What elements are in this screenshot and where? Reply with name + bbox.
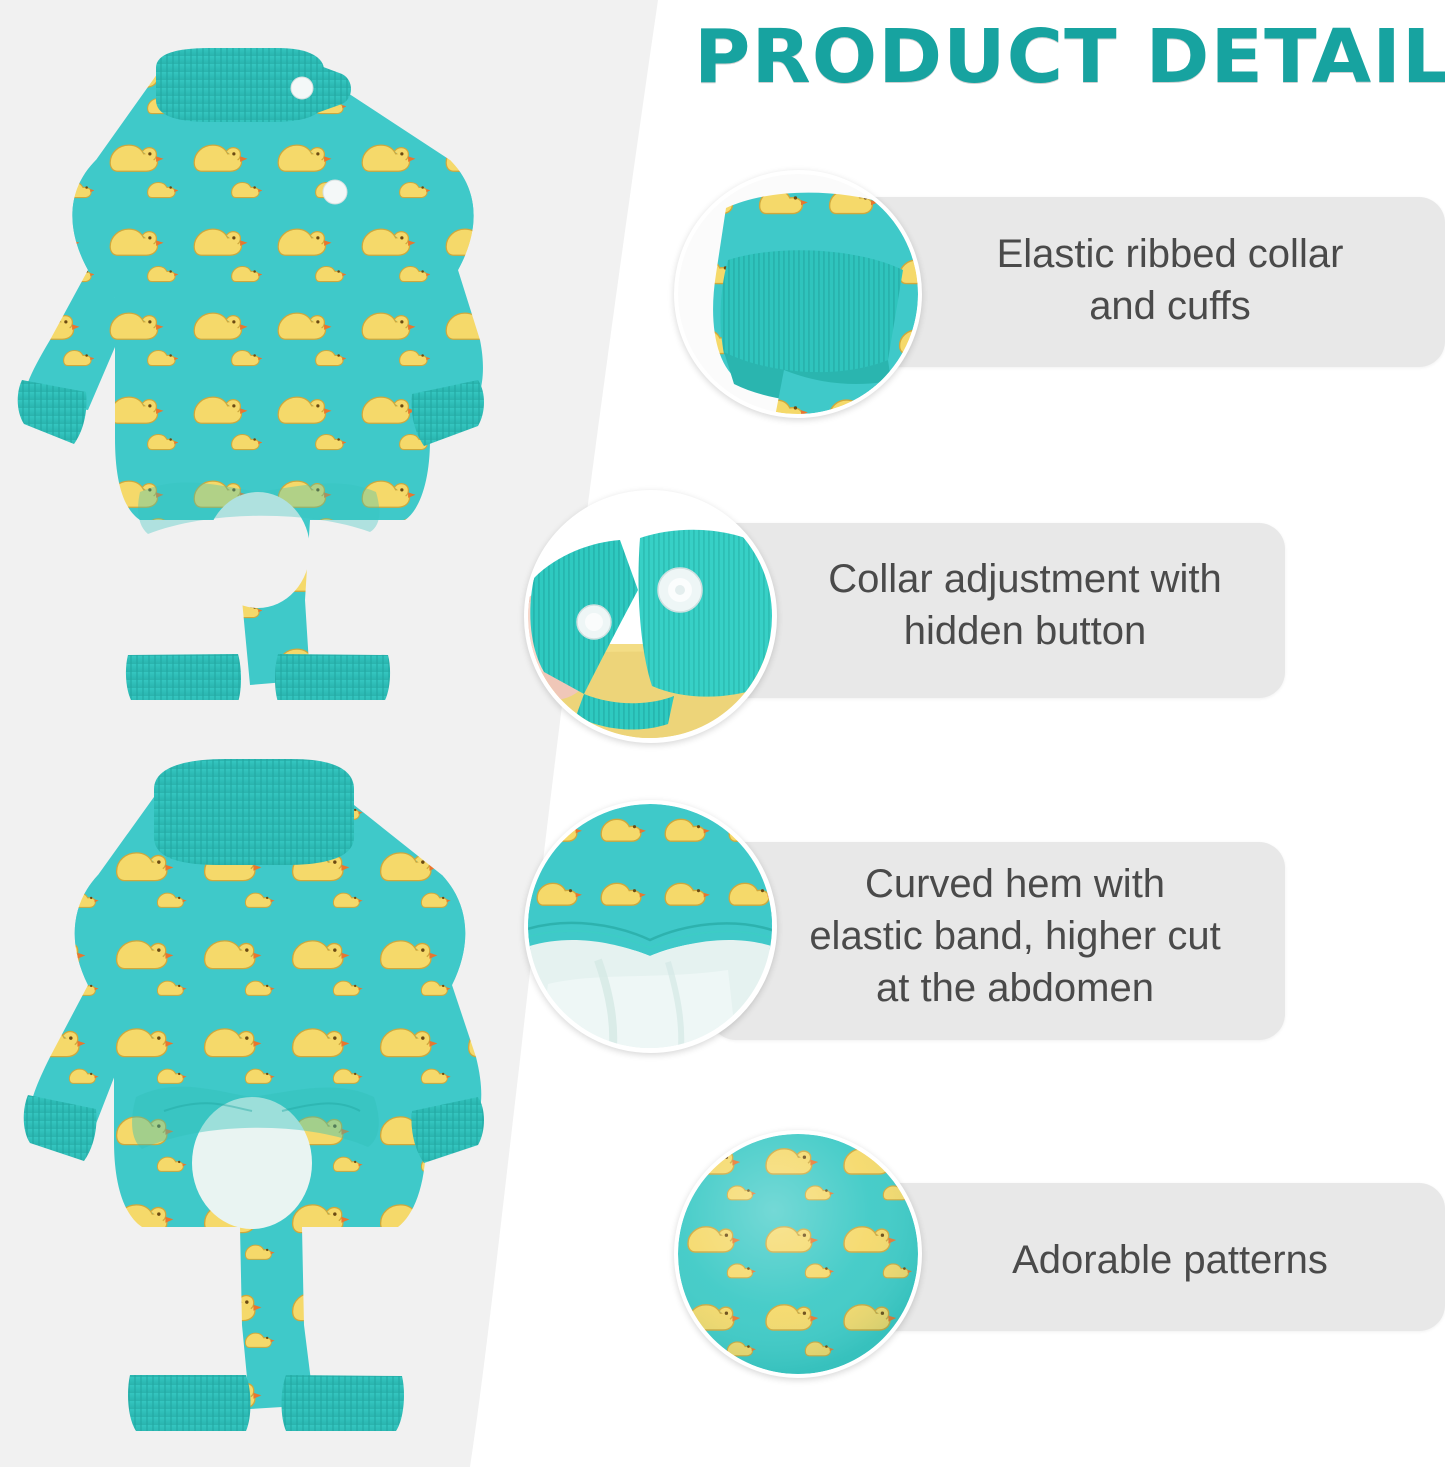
feature-label: Curved hem with elastic band, higher cut…	[760, 858, 1270, 1014]
product-details-infographic: PRODUCT DETAILS Elastic ribbed collar an…	[0, 0, 1445, 1467]
collar-snap-button-closeup-photo	[524, 490, 777, 743]
feature-collar-adjustment-with-hidden-button: Collar adjustment with hidden button	[510, 490, 1300, 755]
feature-adorable-patterns: Adorable patterns	[660, 1130, 1445, 1390]
pajama-full-body-photo	[14, 745, 494, 1445]
pajama-top-photo	[10, 40, 490, 700]
ribbed-cuff-closeup-photo	[674, 170, 922, 418]
page-title: PRODUCT DETAILS	[694, 16, 1445, 98]
feature-elastic-ribbed-collar-and-cuffs: Elastic ribbed collar and cuffs	[660, 170, 1445, 420]
curved-elastic-hem-closeup-photo	[524, 800, 777, 1053]
feature-label: Collar adjustment with hidden button	[780, 553, 1270, 657]
feature-label: Elastic ribbed collar and cuffs	[920, 228, 1420, 332]
feature-label: Adorable patterns	[920, 1234, 1420, 1286]
feature-curved-hem-with-elastic-band: Curved hem with elastic band, higher cut…	[510, 800, 1300, 1090]
duck-pattern-closeup-photo	[674, 1130, 922, 1378]
